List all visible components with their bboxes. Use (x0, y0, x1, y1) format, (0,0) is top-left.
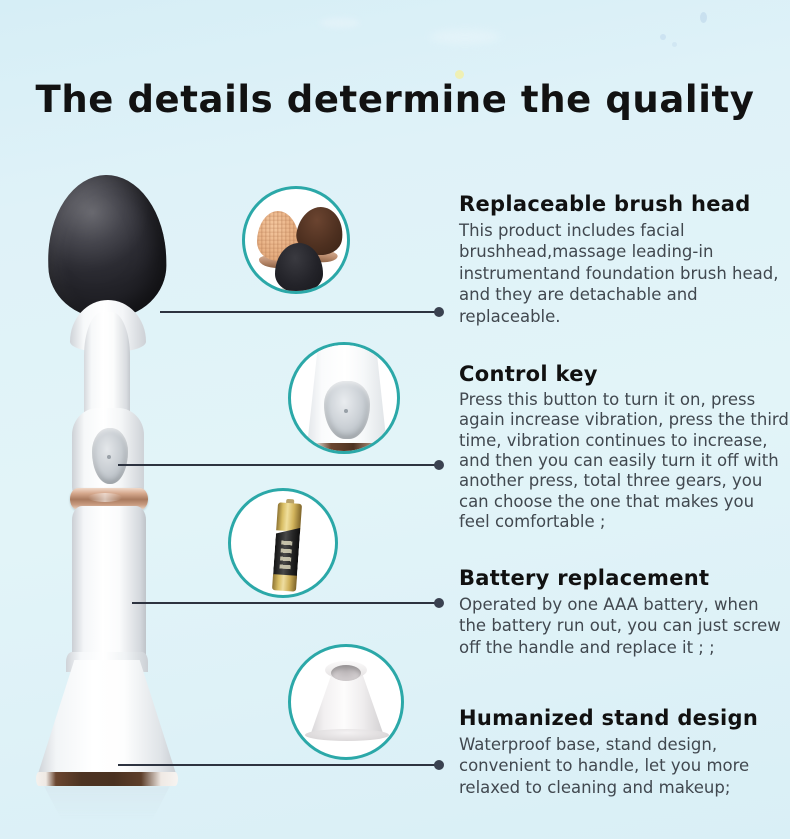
feature-title: Humanized stand design (459, 706, 790, 731)
base-trim-band (36, 772, 178, 786)
leader-dot-3 (434, 598, 444, 608)
feature-section-humanized-stand-design: Humanized stand design Waterproof base, … (459, 706, 790, 798)
brush-head-icon (47, 174, 167, 319)
feature-body: This product includes facial brushhead,m… (459, 220, 790, 327)
leader-line-3 (132, 602, 438, 604)
bokeh-speck (700, 12, 707, 23)
feature-title: Replaceable brush head (459, 192, 790, 217)
feature-body: Press this button to turn it on, press a… (459, 390, 790, 533)
leader-dot-1 (434, 307, 444, 317)
handle-closeup-trim (315, 443, 379, 451)
bokeh-speck (660, 34, 666, 40)
inset-brush-heads (242, 186, 350, 294)
feature-body: Operated by one AAA battery, when the ba… (459, 594, 790, 658)
leader-line-4 (118, 764, 438, 766)
brush-head-black-icon (275, 243, 323, 293)
leader-dot-2 (434, 460, 444, 470)
inset-control-key (288, 342, 400, 454)
leader-line-2 (118, 464, 438, 466)
product-illustration: ANDOR (0, 0, 260, 839)
feature-title: Control key (459, 362, 790, 387)
stand-foot (305, 729, 389, 741)
feature-section-battery-replacement: Battery replacement Operated by one AAA … (459, 566, 790, 658)
leader-dot-4 (434, 760, 444, 770)
feature-body: Waterproof base, stand design, convenien… (459, 734, 790, 798)
feature-section-replaceable-brush-head: Replaceable brush head This product incl… (459, 192, 790, 327)
stand-socket (331, 665, 361, 681)
inset-battery (228, 488, 338, 598)
feature-section-control-key: Control key Press this button to turn it… (459, 362, 790, 532)
handle-body: ANDOR (72, 506, 146, 668)
bokeh-speck (672, 42, 677, 47)
base-reflection (44, 786, 170, 820)
bokeh-speck (430, 30, 500, 44)
feature-title: Battery replacement (459, 566, 790, 591)
bokeh-speck (320, 18, 360, 28)
product-infographic: The details determine the quality ANDOR (0, 0, 790, 839)
stand-base-icon (36, 660, 178, 780)
aaa-battery-icon (272, 502, 302, 591)
leader-line-1 (160, 311, 438, 313)
inset-stand (288, 644, 404, 760)
